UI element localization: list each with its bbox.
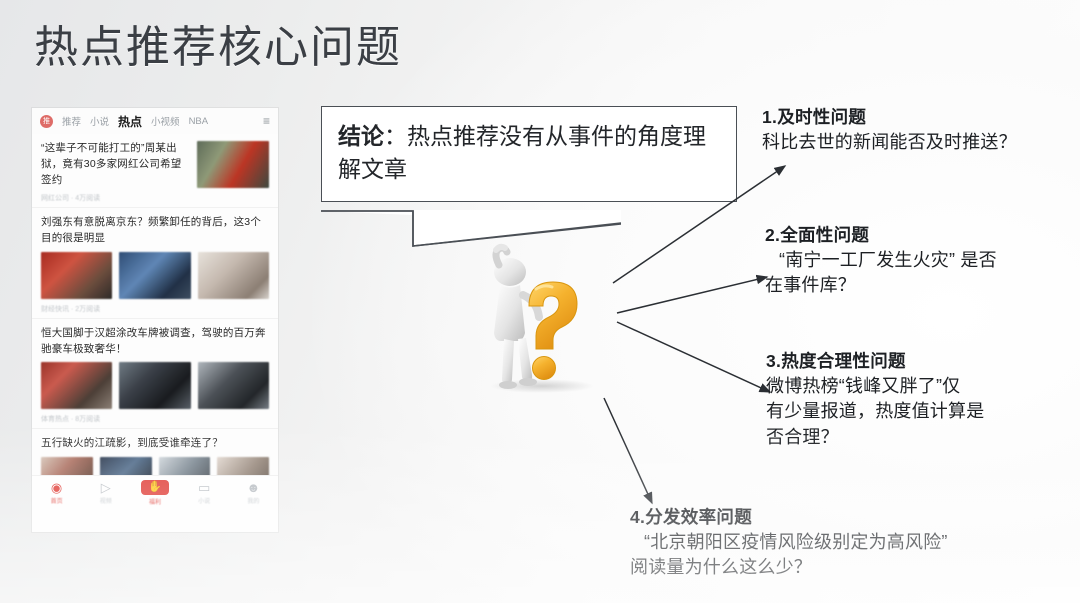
book-icon: ▭ <box>198 481 210 494</box>
note-body-line-1: “北京朝阳区疫情风险级别定为高风险” <box>630 530 1070 556</box>
arrow-to-note-2 <box>617 277 767 313</box>
note-heading: 3.热度合理性问题 <box>766 350 1066 374</box>
play-icon: ▷ <box>101 481 111 494</box>
tabbar-label: 小说 <box>198 496 210 505</box>
article-title: 五行缺火的江疏影，到底受谁牵连了？ <box>41 436 269 452</box>
slide-canvas: 热点推荐核心问题 推 推荐 小说 热点 小视频 NBA ≡ “这辈子不可能打工的… <box>0 0 1080 603</box>
note-heading: 1.及时性问题 <box>762 106 1072 130</box>
tabbar-item-home[interactable]: ◉ 首页 <box>32 481 81 505</box>
list-item[interactable]: “这辈子不可能打工的”周某出狱，竟有30多家网红公司希望签约 网红公司 · 4万… <box>32 134 278 208</box>
conclusion-text: 结论：热点推荐没有从事件的角度理解文章 <box>338 120 720 187</box>
app-logo-icon: 推 <box>40 115 53 128</box>
note-body: 科比去世的新闻能否及时推送？ <box>762 130 1072 156</box>
home-icon: ◉ <box>51 481 62 494</box>
note-body-line-1: 微博热榜“钱峰又胖了”仅 <box>766 374 1066 400</box>
arrow-to-note-4 <box>604 398 652 503</box>
note-body-line-3: 否合理？ <box>766 425 1066 451</box>
tabbar-label: 首页 <box>51 496 63 505</box>
person-icon: ☻ <box>247 481 261 494</box>
note-heat-reasonableness: 3.热度合理性问题 微博热榜“钱峰又胖了”仅 有少量报道，热度值计算是 否合理？ <box>766 350 1066 450</box>
tabbar-label: 视频 <box>100 496 112 505</box>
article-thumbnail <box>198 362 269 409</box>
tabbar-label: 福利 <box>149 497 161 506</box>
nav-tab-shortvideo[interactable]: 小视频 <box>151 114 180 128</box>
confused-person-with-question-mark-illustration <box>466 243 618 395</box>
article-thumbnail <box>41 252 112 299</box>
list-item[interactable]: 刘强东有意脱离京东？频繁卸任的背后，这3个目的很是明显 财经快讯 · 2万阅读 <box>32 208 278 319</box>
article-meta: 体育热点 · 8万阅读 <box>41 414 269 424</box>
tabbar-label: 我的 <box>247 496 259 505</box>
phone-top-nav: 推 推荐 小说 热点 小视频 NBA ≡ <box>32 108 278 134</box>
article-title: “这辈子不可能打工的”周某出狱，竟有30多家网红公司希望签约 <box>41 141 269 188</box>
tabbar-item-profile[interactable]: ☻ 我的 <box>229 481 278 505</box>
tabbar-item-novel[interactable]: ▭ 小说 <box>180 481 229 505</box>
question-mark-icon <box>529 282 577 380</box>
note-body-line-2: 阅读量为什么这么少？ <box>630 555 1070 581</box>
note-body-line-2: 在事件库？ <box>765 273 1070 299</box>
conclusion-separator: ： <box>384 123 407 149</box>
article-meta: 网红公司 · 4万阅读 <box>41 193 269 203</box>
note-body-line-1: “南宁一工厂发生火灾” 是否 <box>765 248 1070 274</box>
hamburger-menu-icon[interactable]: ≡ <box>263 114 270 128</box>
article-thumbnail <box>119 362 190 409</box>
article-thumbnail <box>41 362 112 409</box>
nav-tab-recommend[interactable]: 推荐 <box>62 114 81 128</box>
phone-bottom-tabbar: ◉ 首页 ▷ 视频 ✋ 福利 ▭ 小说 ☻ 我的 <box>32 475 278 510</box>
note-timeliness: 1.及时性问题 科比去世的新闻能否及时推送？ <box>762 106 1072 155</box>
arrow-to-note-3 <box>617 322 770 392</box>
note-coverage: 2.全面性问题 “南宁一工厂发生火灾” 是否 在事件库？ <box>765 224 1070 299</box>
note-body-line-2: 有少量报道，热度值计算是 <box>766 399 1066 425</box>
tabbar-item-video[interactable]: ▷ 视频 <box>81 481 130 505</box>
note-heading: 2.全面性问题 <box>765 224 1070 248</box>
note-distribution-efficiency: 4.分发效率问题 “北京朝阳区疫情风险级别定为高风险” 阅读量为什么这么少？ <box>630 506 1070 581</box>
article-thumbnail <box>198 252 269 299</box>
nav-tab-nba[interactable]: NBA <box>189 116 209 127</box>
article-title: 恒大国脚于汉超涂改车牌被调查，驾驶的百万奔驰豪车极致奢华！ <box>41 326 269 358</box>
article-meta: 财经快讯 · 2万阅读 <box>41 304 269 314</box>
article-thumbnail <box>119 252 190 299</box>
conclusion-label: 结论 <box>338 123 384 149</box>
list-item[interactable]: 恒大国脚于汉超涂改车牌被调查，驾驶的百万奔驰豪车极致奢华！ 体育热点 · 8万阅… <box>32 319 278 430</box>
tabbar-item-benefit[interactable]: ✋ 福利 <box>130 480 179 506</box>
nav-tab-novel[interactable]: 小说 <box>90 114 109 128</box>
note-heading: 4.分发效率问题 <box>630 506 1070 530</box>
conclusion-callout: 结论：热点推荐没有从事件的角度理解文章 <box>321 106 737 202</box>
hand-icon: ✋ <box>141 480 169 495</box>
page-title: 热点推荐核心问题 <box>34 22 402 75</box>
article-title: 刘强东有意脱离京东？频繁卸任的背后，这3个目的很是明显 <box>41 215 269 247</box>
nav-tab-hotspot[interactable]: 热点 <box>118 113 142 130</box>
phone-screenshot: 推 推荐 小说 热点 小视频 NBA ≡ “这辈子不可能打工的”周某出狱，竟有3… <box>32 108 278 532</box>
